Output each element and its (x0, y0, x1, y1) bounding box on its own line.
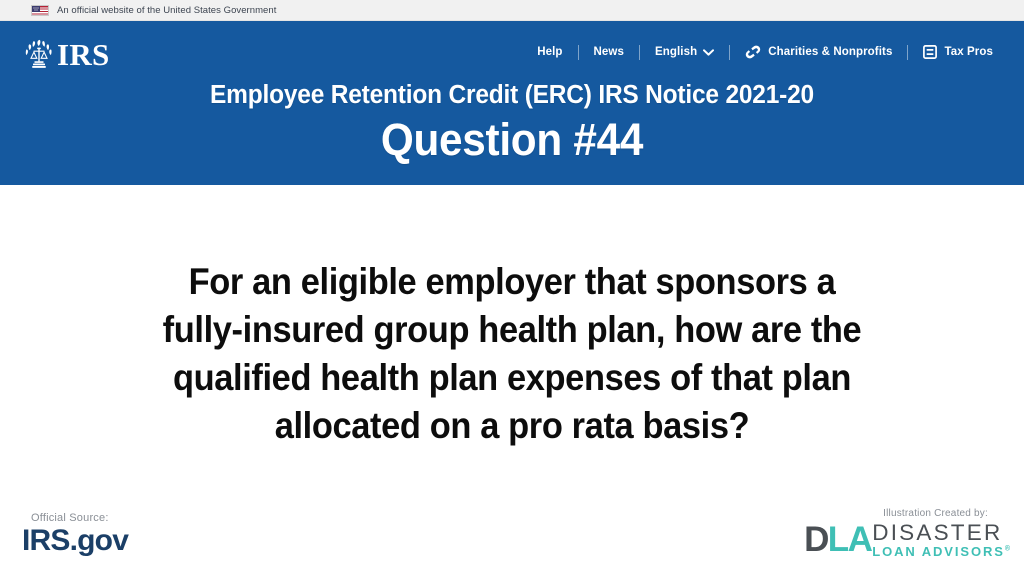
nav-item-help[interactable]: Help (522, 46, 577, 58)
nav-item-language-label: English (655, 46, 697, 58)
dla-monogram-d: D (804, 520, 828, 559)
page-subtitle: Employee Retention Credit (ERC) IRS Noti… (20, 81, 1003, 110)
illustration-credit-block: Illustration Created by: DLA DISASTER LO… (804, 508, 1010, 559)
irs-eagle-scales-emblem (24, 38, 54, 70)
nav-item-tax-pros[interactable]: Tax Pros (908, 45, 1008, 59)
dla-logo[interactable]: DLA DISASTER LOAN ADVISORS® (804, 522, 1010, 559)
nav-item-charities[interactable]: Charities & Nonprofits (730, 45, 907, 59)
dla-monogram-la: LA (828, 520, 871, 559)
nav-item-language[interactable]: English (640, 46, 729, 58)
illustration-credit-label: Illustration Created by: (804, 508, 1010, 519)
dla-word-loan-advisors-text: LOAN ADVISORS (872, 544, 1005, 559)
page-title: Question #44 (31, 113, 994, 167)
nav-item-news[interactable]: News (579, 46, 639, 58)
slide-root: An official website of the United States… (0, 0, 1024, 576)
us-flag-icon (31, 5, 49, 16)
nav-item-charities-label: Charities & Nonprofits (768, 46, 892, 58)
header-title-block: Employee Retention Credit (ERC) IRS Noti… (0, 81, 1024, 167)
header-nav: Help News English (522, 43, 1008, 61)
nav-item-tax-pros-label: Tax Pros (944, 46, 993, 58)
gov-banner: An official website of the United States… (0, 0, 1024, 21)
chevron-down-icon (703, 49, 714, 56)
nav-item-news-label: News (594, 46, 624, 58)
dla-word-disaster: DISASTER (872, 522, 1010, 545)
irs-logo[interactable]: IRS (24, 37, 110, 71)
official-source-name[interactable]: IRS.gov (22, 526, 128, 556)
dla-monogram: DLA (804, 523, 871, 556)
dla-word-loan-advisors: LOAN ADVISORS® (872, 545, 1010, 558)
header-top-bar: IRS Help News English (0, 21, 1024, 81)
official-source-label: Official Source: (22, 512, 128, 524)
irs-wordmark: IRS (57, 39, 110, 70)
question-line-1: For an eligible employer that sponsors a (36, 258, 988, 306)
site-header: IRS Help News English (0, 21, 1024, 185)
charities-hands-icon (745, 45, 761, 59)
gov-banner-text: An official website of the United States… (57, 5, 276, 16)
question-line-2: fully-insured group health plan, how are… (36, 306, 988, 354)
question-line-3: qualified health plan expenses of that p… (36, 354, 988, 402)
official-source-block: Official Source: IRS.gov (22, 512, 128, 556)
dla-wordmark: DISASTER LOAN ADVISORS® (872, 522, 1010, 559)
registered-trademark-icon: ® (1005, 546, 1010, 553)
question-text: For an eligible employer that sponsors a… (0, 258, 1024, 450)
question-line-4: allocated on a pro rata basis? (36, 402, 988, 450)
tax-pros-book-icon (923, 45, 937, 59)
nav-item-help-label: Help (537, 46, 562, 58)
